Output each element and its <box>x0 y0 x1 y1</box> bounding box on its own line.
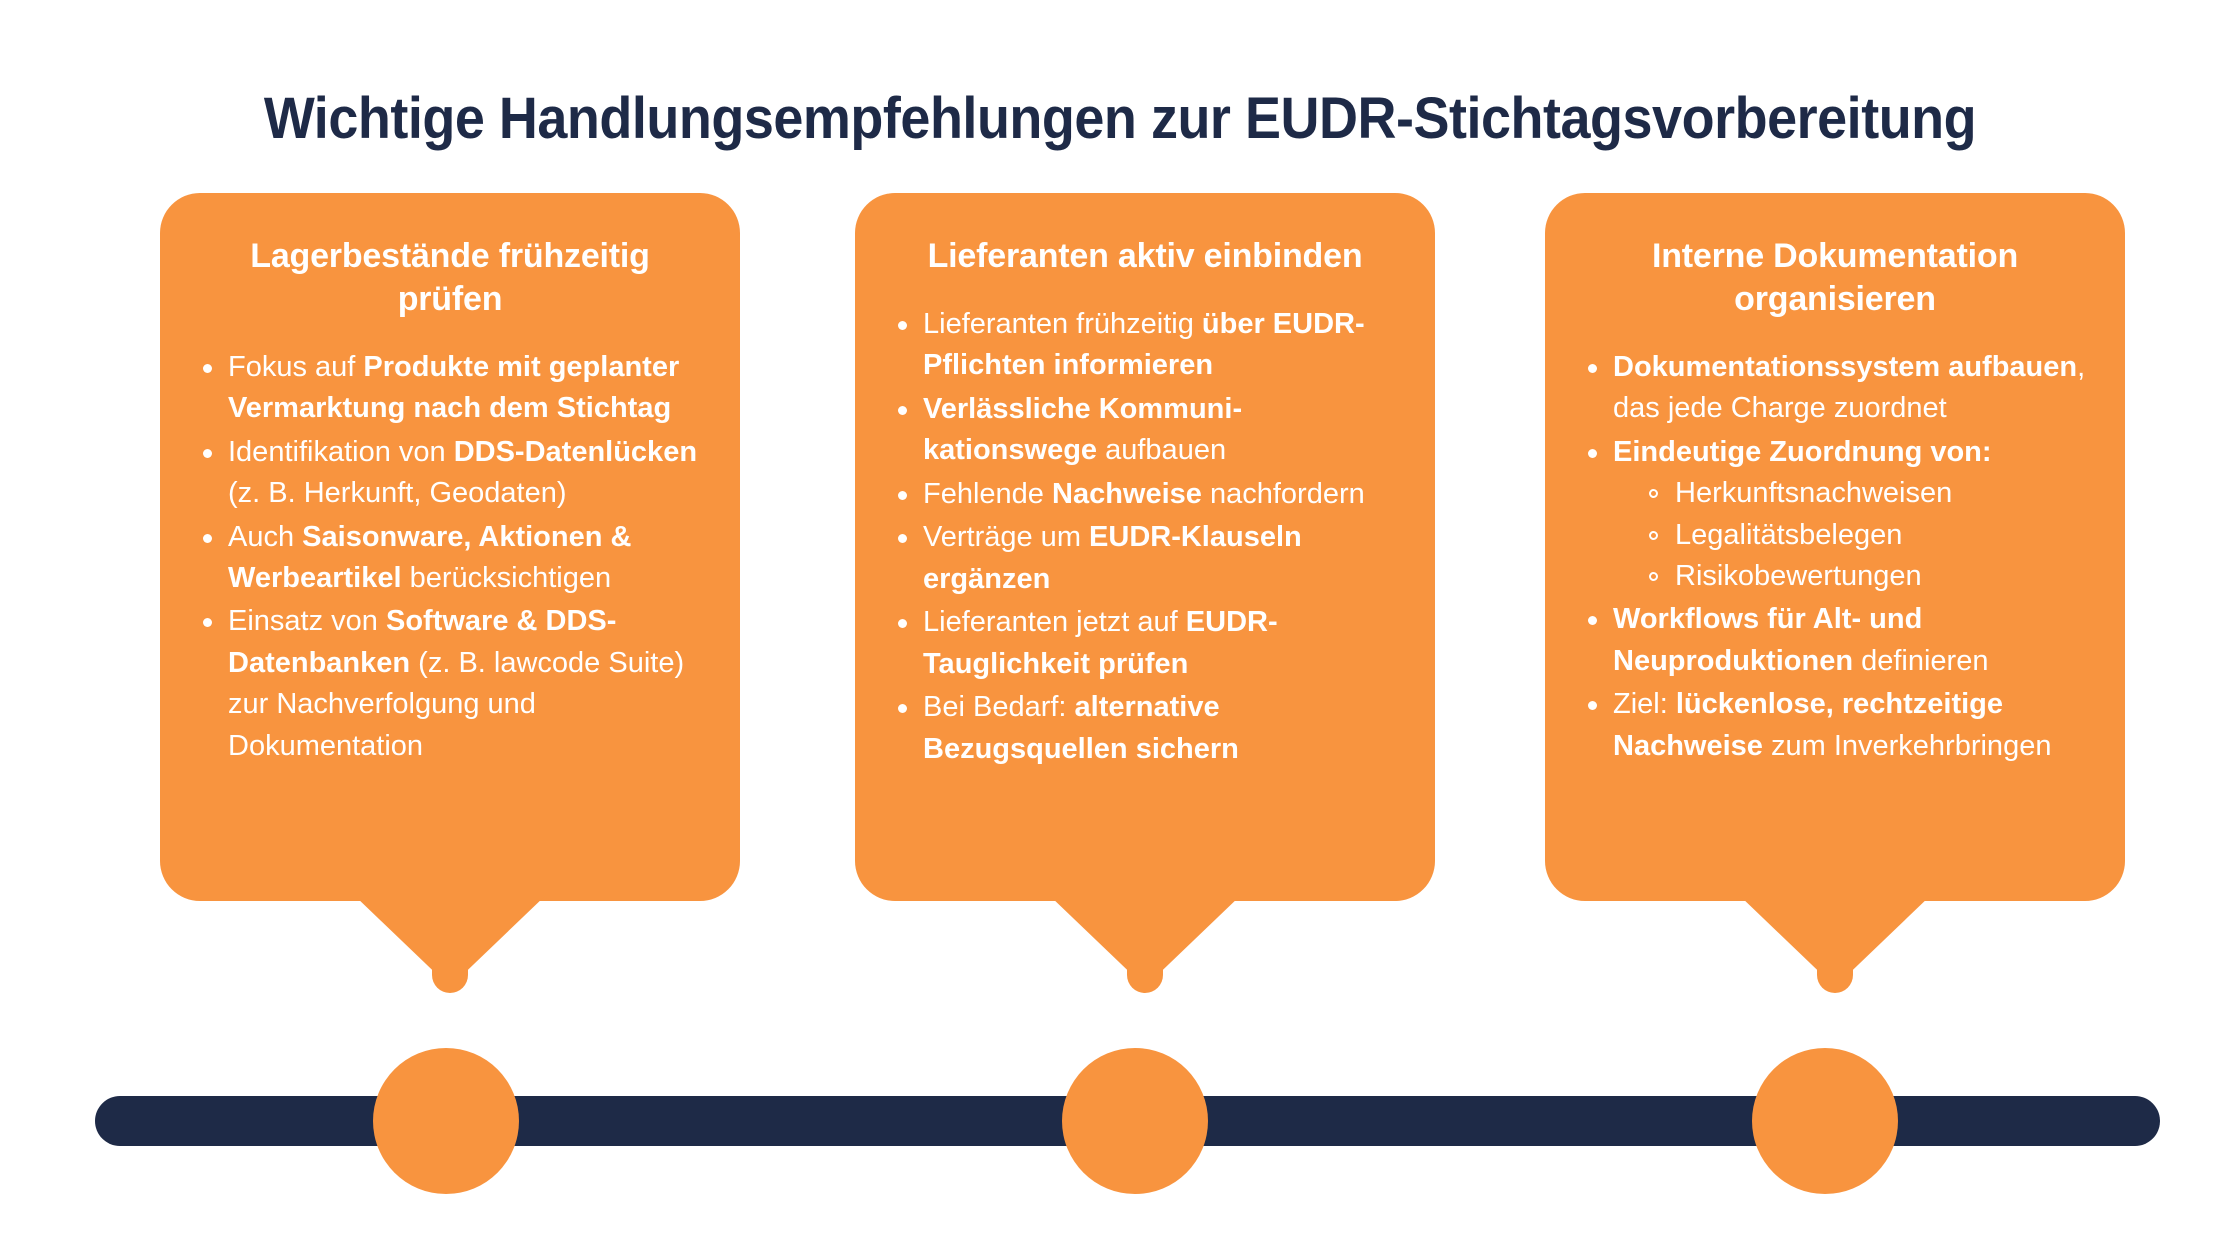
infographic-canvas: Wichtige Handlungsempfehlungen zur EUDR-… <box>0 0 2240 1260</box>
bullet-text-plain: Ziel: <box>1613 688 1676 720</box>
list-item: Identifikation von DDS-Datenlücken (z. B… <box>194 432 706 515</box>
timeline-dot-step-2 <box>1062 1048 1208 1194</box>
cards-row: Lagerbestände frühzeitig prüfen Fokus au… <box>0 193 2240 993</box>
card-bullet-list: Lieferanten frühzeitig über EUDR-Pflicht… <box>889 304 1401 770</box>
list-item: Ziel: lückenlose, rechtzeitige Nachweise… <box>1579 684 2091 767</box>
bullet-text-plain: definieren <box>1853 645 1988 677</box>
list-item: Lieferanten jetzt auf EUDR-Tauglichkeit … <box>889 602 1401 685</box>
list-item: Verlässliche Kommuni-kationswege aufbaue… <box>889 389 1401 472</box>
list-item: Einsatz von Software & DDS-Datenbanken (… <box>194 601 706 767</box>
page-title: Wichtige Handlungsempfehlungen zur EUDR-… <box>78 87 2161 151</box>
bullet-text-plain: nachfordern <box>1202 478 1365 510</box>
sub-list-item: Legalitätsbelegen <box>1641 515 2091 556</box>
bullet-text-plain: Lieferanten jetzt auf <box>923 606 1186 638</box>
bullet-text-plain: Auch <box>228 521 302 553</box>
card-title: Lieferanten aktiv einbinden <box>889 235 1401 278</box>
bullet-text-plain: Bei Bedarf: <box>923 691 1075 723</box>
card-tail-triangle <box>1739 895 1931 987</box>
bullet-text-plain: zum Inverkehrbringen <box>1763 730 2052 762</box>
bullet-text-bold: DDS-Datenlücken <box>454 436 697 468</box>
timeline-bar <box>95 1096 2160 1146</box>
timeline-dot-step-3 <box>1752 1048 1898 1194</box>
card-dokumentation: Interne Dokumentation organisieren Dokum… <box>1545 193 2125 901</box>
card-tail-triangle <box>1049 895 1241 987</box>
bullet-text-plain: Fehlende <box>923 478 1052 510</box>
bullet-text-plain: Einsatz von <box>228 605 386 637</box>
bullet-text-plain: Fokus auf <box>228 351 363 383</box>
bullet-text-plain: berücksichtigen <box>402 562 612 594</box>
timeline-dot-step-1 <box>373 1048 519 1194</box>
list-item: Verträge um EUDR-Klauseln ergänzen <box>889 517 1401 600</box>
card-lagerbestaende: Lagerbestände frühzeitig prüfen Fokus au… <box>160 193 740 901</box>
card-lieferanten: Lieferanten aktiv einbinden Lieferanten … <box>855 193 1435 901</box>
list-item: Dokumentationssystem aufbauen, das jede … <box>1579 347 2091 430</box>
card-title: Lagerbestände frühzeitig prüfen <box>194 235 706 321</box>
bullet-text-bold: Dokumentationssystem aufbauen <box>1613 351 2077 383</box>
list-item: Workflows für Alt- und Neuproduktionen d… <box>1579 599 2091 682</box>
card-bullet-list: Fokus auf Produkte mit geplanter Vermark… <box>194 347 706 768</box>
bullet-text-bold: Eindeutige Zuordnung von: <box>1613 436 1992 468</box>
card-tail-triangle <box>354 895 546 987</box>
bullet-text-bold: Nachweise <box>1052 478 1202 510</box>
list-item: Bei Bedarf: alternative Bezugsquellen si… <box>889 687 1401 770</box>
sub-list-item: Risikobewertungen <box>1641 556 2091 597</box>
bullet-text-plain: Verträge um <box>923 521 1089 553</box>
list-item: Eindeutige Zuordnung von: Herkunftsnachw… <box>1579 432 2091 598</box>
list-item: Fokus auf Produkte mit geplanter Vermark… <box>194 347 706 430</box>
list-item: Auch Saisonware, Aktionen & Werbeartikel… <box>194 517 706 600</box>
list-item: Fehlende Nachweise nachfordern <box>889 474 1401 515</box>
sub-list-item: Herkunftsnachweisen <box>1641 473 2091 514</box>
bullet-text-plain: Lieferanten frühzeitig <box>923 308 1202 340</box>
bullet-text-plain: Identifikation von <box>228 436 454 468</box>
card-title: Interne Dokumentation organisieren <box>1579 235 2091 321</box>
list-item: Lieferanten frühzeitig über EUDR-Pflicht… <box>889 304 1401 387</box>
card-sub-bullet-list: Herkunftsnachweisen Legalitätsbelegen Ri… <box>1613 473 2091 597</box>
card-bullet-list: Dokumentationssystem aufbauen, das jede … <box>1579 347 2091 768</box>
bullet-text-plain: aufbauen <box>1097 434 1226 466</box>
bullet-text-plain: (z. B. Herkunft, Geodaten) <box>228 477 566 509</box>
